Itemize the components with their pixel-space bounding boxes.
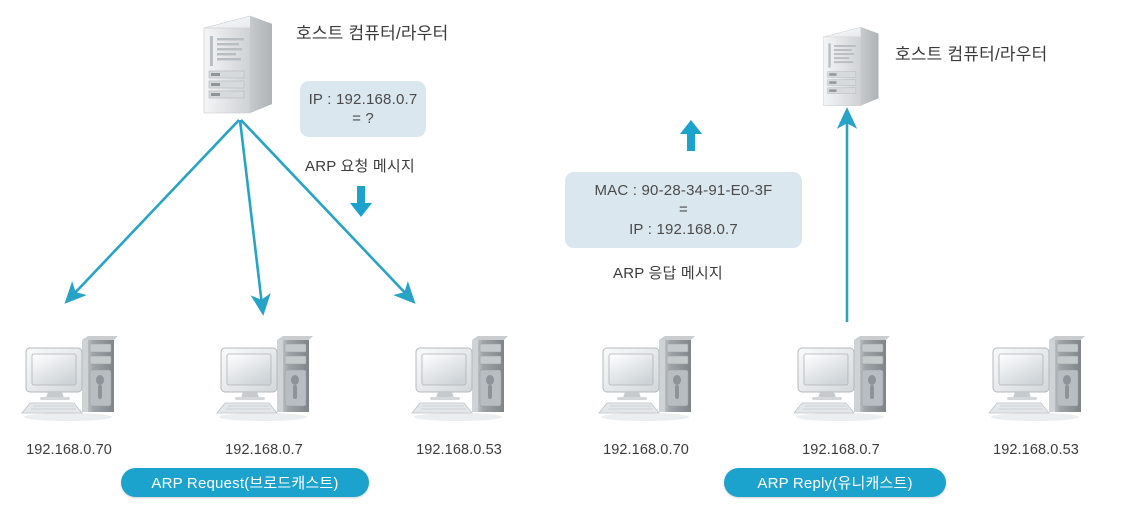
host-ip-label: 192.168.0.70	[593, 442, 699, 458]
server-title-left: 호스트 컴퓨터/라우터	[296, 19, 448, 44]
desktop-computer-icon	[211, 334, 317, 422]
host-ip-label: 192.168.0.70	[16, 442, 122, 458]
host-ip-label: 192.168.0.7	[211, 442, 317, 458]
desktop-computer-icon	[983, 334, 1089, 422]
desktop-computer-icon	[593, 334, 699, 422]
desktop-computer-icon	[16, 334, 122, 422]
host-ip-label: 192.168.0.53	[983, 442, 1089, 458]
reply-bubble: MAC : 90-28-34-91-E0-3F = IP : 192.168.0…	[565, 172, 802, 248]
arp-request-badge[interactable]: ARP Request(브로드캐스트)	[121, 468, 369, 497]
reply-bubble-line2: =	[679, 200, 688, 219]
host-ip-label: 192.168.0.7	[788, 442, 894, 458]
block-arrow-down-icon	[348, 186, 374, 218]
arp-reply-badge[interactable]: ARP Reply(유니캐스트)	[724, 468, 946, 497]
desktop-computer-icon	[788, 334, 894, 422]
reply-bubble-line3: IP : 192.168.0.7	[629, 220, 738, 239]
arrow-layer	[0, 0, 1130, 508]
reply-bubble-line1: MAC : 90-28-34-91-E0-3F	[594, 181, 772, 200]
diagram-canvas: 호스트 컴퓨터/라우터 IP : 192.168.0.7 = ? ARP 요청 …	[0, 0, 1130, 508]
reply-message-label: ARP 응답 메시지	[613, 262, 723, 283]
host-ip-label: 192.168.0.53	[406, 442, 512, 458]
request-bubble: IP : 192.168.0.7 = ?	[300, 81, 426, 137]
desktop-computer-icon	[406, 334, 512, 422]
request-message-label: ARP 요청 메시지	[305, 155, 415, 176]
server-tower-icon	[200, 12, 276, 116]
server-title-right: 호스트 컴퓨터/라우터	[895, 40, 1047, 65]
block-arrow-up-icon	[678, 120, 704, 152]
server-tower-icon	[820, 24, 882, 108]
request-bubble-line1: IP : 192.168.0.7	[309, 90, 418, 109]
request-bubble-line2: = ?	[352, 109, 374, 128]
